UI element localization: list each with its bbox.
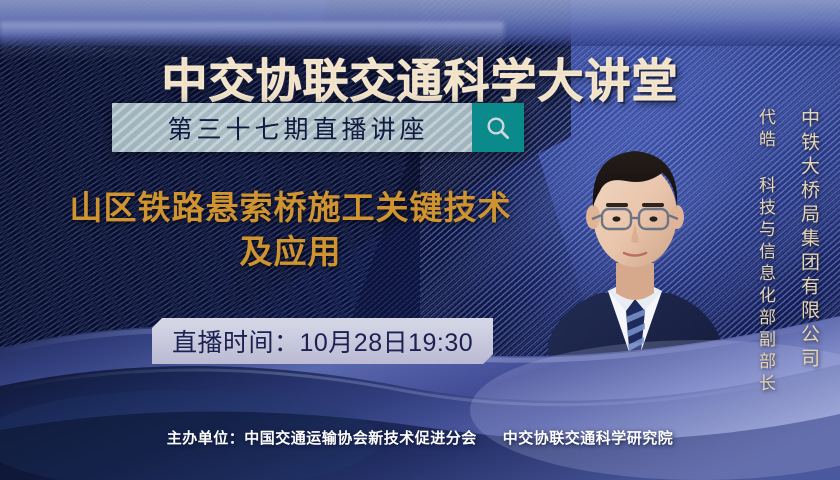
speaker-name-title: 代皓 科技与信息化部副部长 — [753, 108, 778, 396]
footer-organizer-2: 中交协联交通科学研究院 — [503, 430, 674, 447]
page-title: 中交协联交通科学大讲堂 — [0, 45, 840, 111]
footer-organizers: 主办单位：中国交通运输协会新技术促进分会中交协联交通科学研究院 — [0, 427, 840, 448]
subtitle-line-1: 山区铁路悬索桥施工关键技术 — [70, 189, 512, 226]
search-icon — [484, 114, 512, 142]
search-input[interactable]: 第三十七期直播讲座 — [112, 103, 472, 152]
footer-prefix: 主办单位： — [167, 430, 245, 447]
episode-label: 第三十七期直播讲座 — [155, 110, 428, 146]
live-stream-poster: 中交协联交通科学大讲堂 第三十七期直播讲座 山区铁路悬索桥施工关键技术 及应用 … — [0, 0, 840, 480]
broadcast-time-text: 直播时间：10月28日19:30 — [172, 323, 473, 359]
speaker-organization: 中铁大桥局集团有限公司 — [795, 108, 822, 372]
lecture-subtitle: 山区铁路悬索桥施工关键技术 及应用 — [18, 186, 563, 274]
episode-search-bar[interactable]: 第三十七期直播讲座 — [112, 103, 524, 152]
footer-organizer-1: 中国交通运输协会新技术促进分会 — [244, 430, 477, 447]
search-button[interactable] — [472, 103, 524, 152]
broadcast-time-banner: 直播时间：10月28日19:30 — [152, 318, 493, 364]
subtitle-line-2: 及应用 — [18, 230, 563, 274]
